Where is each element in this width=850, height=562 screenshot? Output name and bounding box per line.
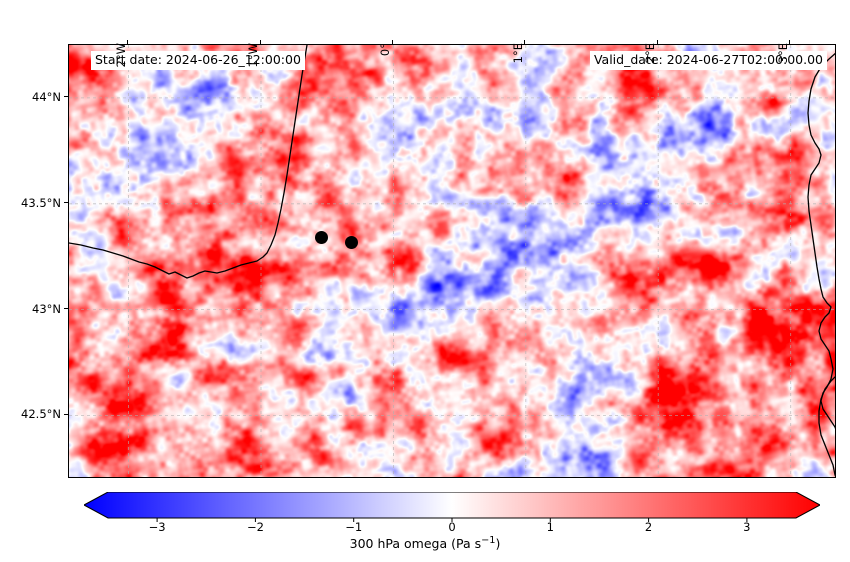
colorbar-tick-label: −2 [247,520,264,534]
colorbar-tick-label: 2 [645,520,652,534]
map-axes[interactable]: Start date: 2024-06-26_12:00:00 Valid_da… [68,44,836,478]
x-tick-label: 1°W [246,43,260,83]
y-tick-mark [64,414,68,415]
x-tick-label: 2°E [643,43,657,83]
colorbar-title: 300 hPa omega (Pa s−1) [0,535,850,551]
valid-date-annotation: Valid_date: 2024-06-27T02:00:00.00 [590,51,827,70]
omega-field-heatmap [69,45,836,478]
x-tick-label: 0° [378,43,392,83]
y-tick-label: 43°N [32,302,61,316]
y-tick-mark [64,308,68,309]
x-tick-label: 3°E [776,43,790,83]
x-tick-label: 1°E [511,43,525,83]
x-tick-mark [260,40,261,44]
colorbar-tick-label: −3 [149,520,166,534]
x-tick-mark [789,40,790,44]
colorbar-tick-label: 0 [448,520,455,534]
x-tick-mark [392,40,393,44]
figure-canvas: Start date: 2024-06-26_12:00:00 Valid_da… [0,0,850,562]
x-tick-label: 2°W [114,43,128,83]
y-tick-mark [64,96,68,97]
y-tick-label: 43.5°N [21,196,61,210]
colorbar-title-text: 300 hPa omega (Pa s [350,536,481,551]
colorbar-tick-label: 1 [547,520,554,534]
colorbar-title-close: ) [495,536,500,551]
colorbar-tick-label: −1 [345,520,362,534]
x-tick-mark [127,40,128,44]
y-tick-mark [64,202,68,203]
colorbar-units-exponent: −1 [481,535,495,546]
y-tick-label: 42.5°N [21,407,61,421]
y-tick-label: 44°N [32,90,61,104]
x-tick-mark [657,40,658,44]
colorbar-tick-label: 3 [743,520,750,534]
colorbar[interactable] [84,492,820,518]
x-tick-mark [524,40,525,44]
